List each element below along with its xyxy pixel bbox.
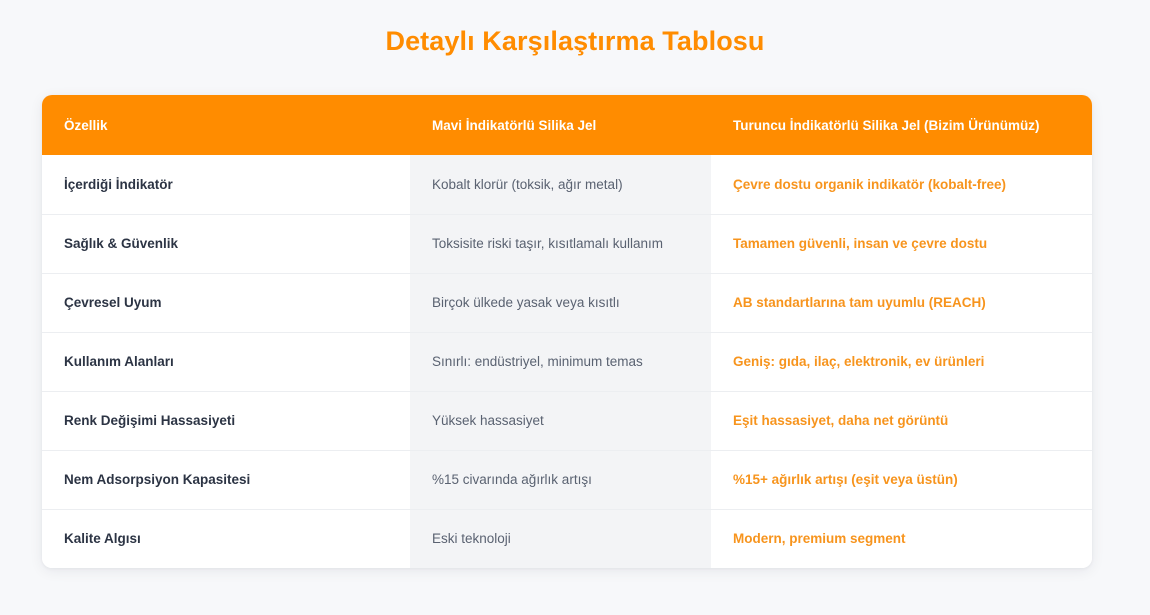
table-row: Sağlık & GüvenlikToksisite riski taşır, … <box>42 214 1092 273</box>
cell-blue-silica: Sınırlı: endüstriyel, minimum temas <box>410 332 711 391</box>
table-row: Renk Değişimi HassasiyetiYüksek hassasiy… <box>42 391 1092 450</box>
table-header: Özellik Mavi İndikatörlü Silika Jel Turu… <box>42 95 1092 155</box>
cell-feature: Renk Değişimi Hassasiyeti <box>42 391 410 450</box>
cell-feature: İçerdiği İndikatör <box>42 155 410 214</box>
cell-blue-silica: Eski teknoloji <box>410 509 711 568</box>
cell-orange-silica: %15+ ağırlık artışı (eşit veya üstün) <box>711 450 1092 509</box>
table-body: İçerdiği İndikatörKobalt klorür (toksik,… <box>42 155 1092 568</box>
cell-blue-silica: Yüksek hassasiyet <box>410 391 711 450</box>
page-title: Detaylı Karşılaştırma Tablosu <box>0 0 1150 57</box>
cell-blue-silica: %15 civarında ağırlık artışı <box>410 450 711 509</box>
column-header-blue-silica: Mavi İndikatörlü Silika Jel <box>410 95 711 155</box>
cell-feature: Çevresel Uyum <box>42 273 410 332</box>
cell-blue-silica: Kobalt klorür (toksik, ağır metal) <box>410 155 711 214</box>
table-row: Kullanım AlanlarıSınırlı: endüstriyel, m… <box>42 332 1092 391</box>
table-row: Nem Adsorpsiyon Kapasitesi%15 civarında … <box>42 450 1092 509</box>
cell-orange-silica: Tamamen güvenli, insan ve çevre dostu <box>711 214 1092 273</box>
cell-feature: Nem Adsorpsiyon Kapasitesi <box>42 450 410 509</box>
comparison-table: Özellik Mavi İndikatörlü Silika Jel Turu… <box>42 95 1092 568</box>
cell-feature: Kalite Algısı <box>42 509 410 568</box>
table-header-row: Özellik Mavi İndikatörlü Silika Jel Turu… <box>42 95 1092 155</box>
cell-blue-silica: Toksisite riski taşır, kısıtlamalı kulla… <box>410 214 711 273</box>
column-header-orange-silica: Turuncu İndikatörlü Silika Jel (Bizim Ür… <box>711 95 1092 155</box>
column-header-feature: Özellik <box>42 95 410 155</box>
cell-orange-silica: Modern, premium segment <box>711 509 1092 568</box>
cell-feature: Kullanım Alanları <box>42 332 410 391</box>
cell-orange-silica: Geniş: gıda, ilaç, elektronik, ev ürünle… <box>711 332 1092 391</box>
cell-feature: Sağlık & Güvenlik <box>42 214 410 273</box>
cell-orange-silica: AB standartlarına tam uyumlu (REACH) <box>711 273 1092 332</box>
table-row: İçerdiği İndikatörKobalt klorür (toksik,… <box>42 155 1092 214</box>
cell-orange-silica: Çevre dostu organik indikatör (kobalt-fr… <box>711 155 1092 214</box>
table-row: Çevresel UyumBirçok ülkede yasak veya kı… <box>42 273 1092 332</box>
table-row: Kalite AlgısıEski teknolojiModern, premi… <box>42 509 1092 568</box>
comparison-table-container: Özellik Mavi İndikatörlü Silika Jel Turu… <box>42 95 1092 568</box>
cell-blue-silica: Birçok ülkede yasak veya kısıtlı <box>410 273 711 332</box>
cell-orange-silica: Eşit hassasiyet, daha net görüntü <box>711 391 1092 450</box>
comparison-page: Detaylı Karşılaştırma Tablosu Özellik Ma… <box>0 0 1150 615</box>
